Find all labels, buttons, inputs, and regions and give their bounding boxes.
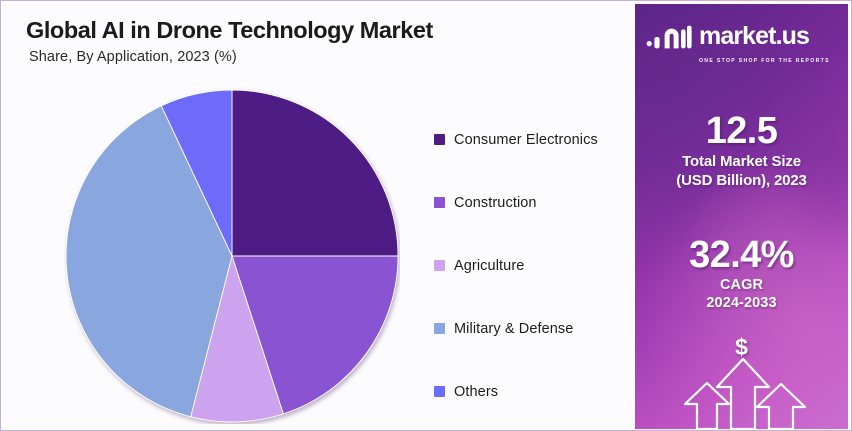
pie-slice[interactable] xyxy=(232,90,398,256)
infographic-frame: Global AI in Drone Technology Market Sha… xyxy=(0,0,852,431)
stats-panel: market.us ONE STOP SHOP FOR THE REPORTS … xyxy=(635,4,848,429)
legend-item-label: Others xyxy=(454,384,498,400)
legend-item-construction[interactable]: Construction xyxy=(434,171,634,234)
legend-item-label: Construction xyxy=(454,195,537,211)
legend-item-label: Consumer Electronics xyxy=(454,132,598,148)
legend-item-military-and-defense[interactable]: Military & Defense xyxy=(434,297,634,360)
legend-swatch-icon xyxy=(434,197,445,208)
cagr-label: CAGR xyxy=(635,276,848,294)
legend-swatch-icon xyxy=(434,386,445,397)
brand-logo[interactable]: market.us ONE STOP SHOP FOR THE REPORTS xyxy=(646,23,848,67)
legend-item-label: Military & Defense xyxy=(454,321,573,337)
market-size-label-line2: (USD Billion), 2023 xyxy=(635,171,848,190)
legend-swatch-icon xyxy=(434,134,445,145)
growth-arrows-icon xyxy=(635,357,848,429)
legend-item-consumer-electronics[interactable]: Consumer Electronics xyxy=(434,108,634,171)
pie-chart xyxy=(64,88,400,424)
page-title: Global AI in Drone Technology Market xyxy=(26,17,433,44)
market-us-bar-logo-icon xyxy=(646,25,692,56)
legend-item-others[interactable]: Others xyxy=(434,360,634,423)
chart-subtitle: Share, By Application, 2023 (%) xyxy=(29,49,237,65)
cagr-value: 32.4% xyxy=(635,234,848,276)
legend-item-agriculture[interactable]: Agriculture xyxy=(434,234,634,297)
market-size-label-line1: Total Market Size xyxy=(635,152,848,171)
cagr-stat: 32.4% CAGR 2024-2033 xyxy=(635,234,848,312)
cagr-period: 2024-2033 xyxy=(635,294,848,312)
chart-legend: Consumer Electronics Construction Agricu… xyxy=(434,108,634,423)
logo-wordmark: market.us xyxy=(699,22,809,50)
legend-item-label: Agriculture xyxy=(454,258,524,274)
pie-chart-svg xyxy=(64,88,400,424)
market-size-stat: 12.5 Total Market Size (USD Billion), 20… xyxy=(635,110,848,190)
logo-tagline: ONE STOP SHOP FOR THE REPORTS xyxy=(699,58,830,64)
market-size-value: 12.5 xyxy=(635,110,848,152)
legend-swatch-icon xyxy=(434,260,445,271)
legend-swatch-icon xyxy=(434,323,445,334)
chart-panel: Global AI in Drone Technology Market Sha… xyxy=(4,4,637,429)
